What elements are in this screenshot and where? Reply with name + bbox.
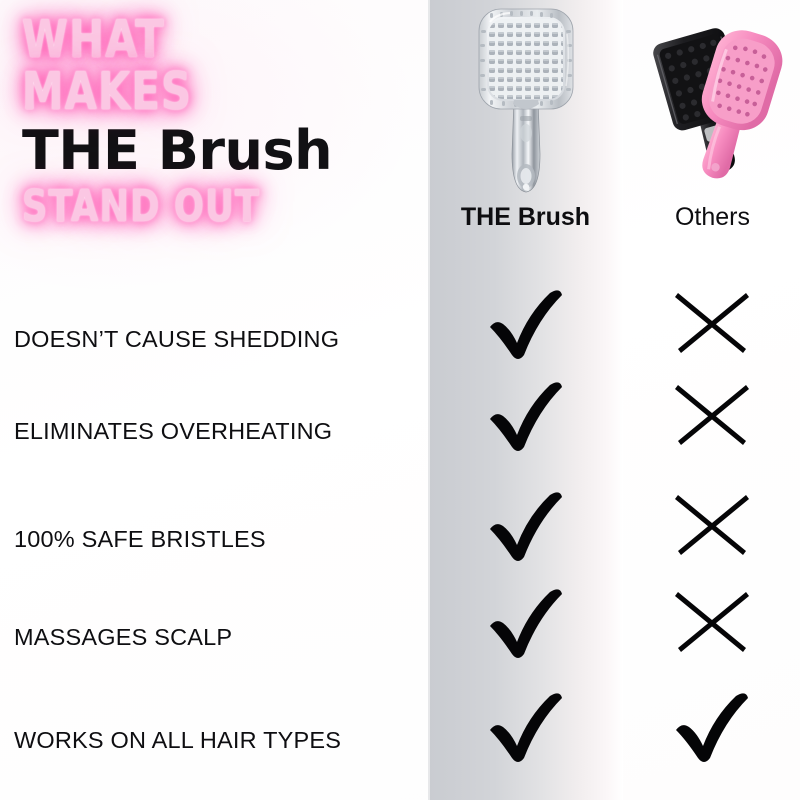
- column-header-the-brush: THE Brush: [428, 204, 623, 232]
- feature-label: WORKS ON ALL HAIR TYPES: [14, 727, 424, 754]
- feature-label: 100% SAFE BRISTLES: [14, 526, 424, 553]
- product-brush-image: [470, 4, 582, 194]
- feature-label: MASSAGES SCALP: [14, 624, 424, 651]
- cross-icon: [664, 483, 760, 567]
- column-header-others: Others: [625, 204, 800, 232]
- check-icon: [664, 684, 760, 768]
- comparison-infographic: WHAT MAKES THE Brush STAND OUT: [0, 0, 800, 800]
- headline-line-stand-out: STAND OUT: [22, 185, 342, 229]
- check-icon: [478, 373, 574, 457]
- headline-line-the-brush: THE Brush: [22, 122, 422, 179]
- headline-block: WHAT MAKES THE Brush STAND OUT: [22, 14, 422, 229]
- check-icon: [478, 281, 574, 365]
- competitor-brushes-image: [640, 24, 792, 182]
- check-icon: [478, 483, 574, 567]
- cross-icon: [664, 281, 760, 365]
- feature-label: ELIMINATES OVERHEATING: [14, 418, 424, 445]
- headline-line-what-makes: WHAT MAKES: [22, 14, 342, 118]
- check-icon: [478, 580, 574, 664]
- cross-icon: [664, 373, 760, 457]
- cross-icon: [664, 580, 760, 664]
- feature-label: DOESN’T CAUSE SHEDDING: [14, 326, 424, 353]
- check-icon: [478, 684, 574, 768]
